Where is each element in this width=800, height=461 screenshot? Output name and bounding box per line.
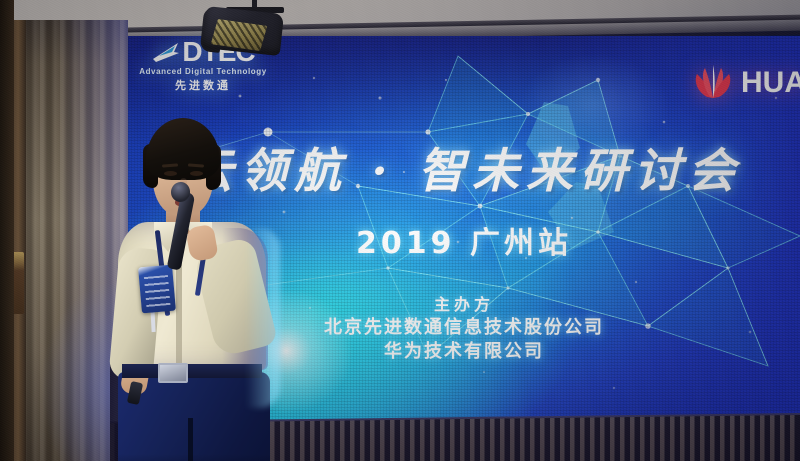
badge-text-lines — [144, 275, 171, 307]
huawei-logo: HUA — [690, 64, 800, 102]
presenter-hair — [146, 118, 220, 180]
conference-stage-scene: 云领航 · 智未来研讨会 2019 广州站 主办方 北京先进数通信息技术股份公司… — [0, 0, 800, 461]
dtec-tagline: Advanced Digital Technology — [122, 67, 284, 76]
trouser-shadow — [118, 454, 270, 461]
dtec-chinese-name: 先进数通 — [122, 77, 284, 93]
dtec-swoosh-icon — [151, 39, 181, 65]
huawei-flower-icon — [690, 64, 736, 102]
presenter-rim-light — [246, 228, 280, 408]
eye-right — [190, 171, 203, 176]
presenter-figure — [96, 118, 286, 461]
conference-badge — [138, 265, 176, 314]
eye-left — [164, 171, 177, 176]
huawei-wordmark: HUA — [741, 66, 800, 100]
left-edge-shadow — [0, 0, 14, 461]
belt-buckle — [158, 363, 188, 383]
presenter-belt — [122, 364, 262, 378]
